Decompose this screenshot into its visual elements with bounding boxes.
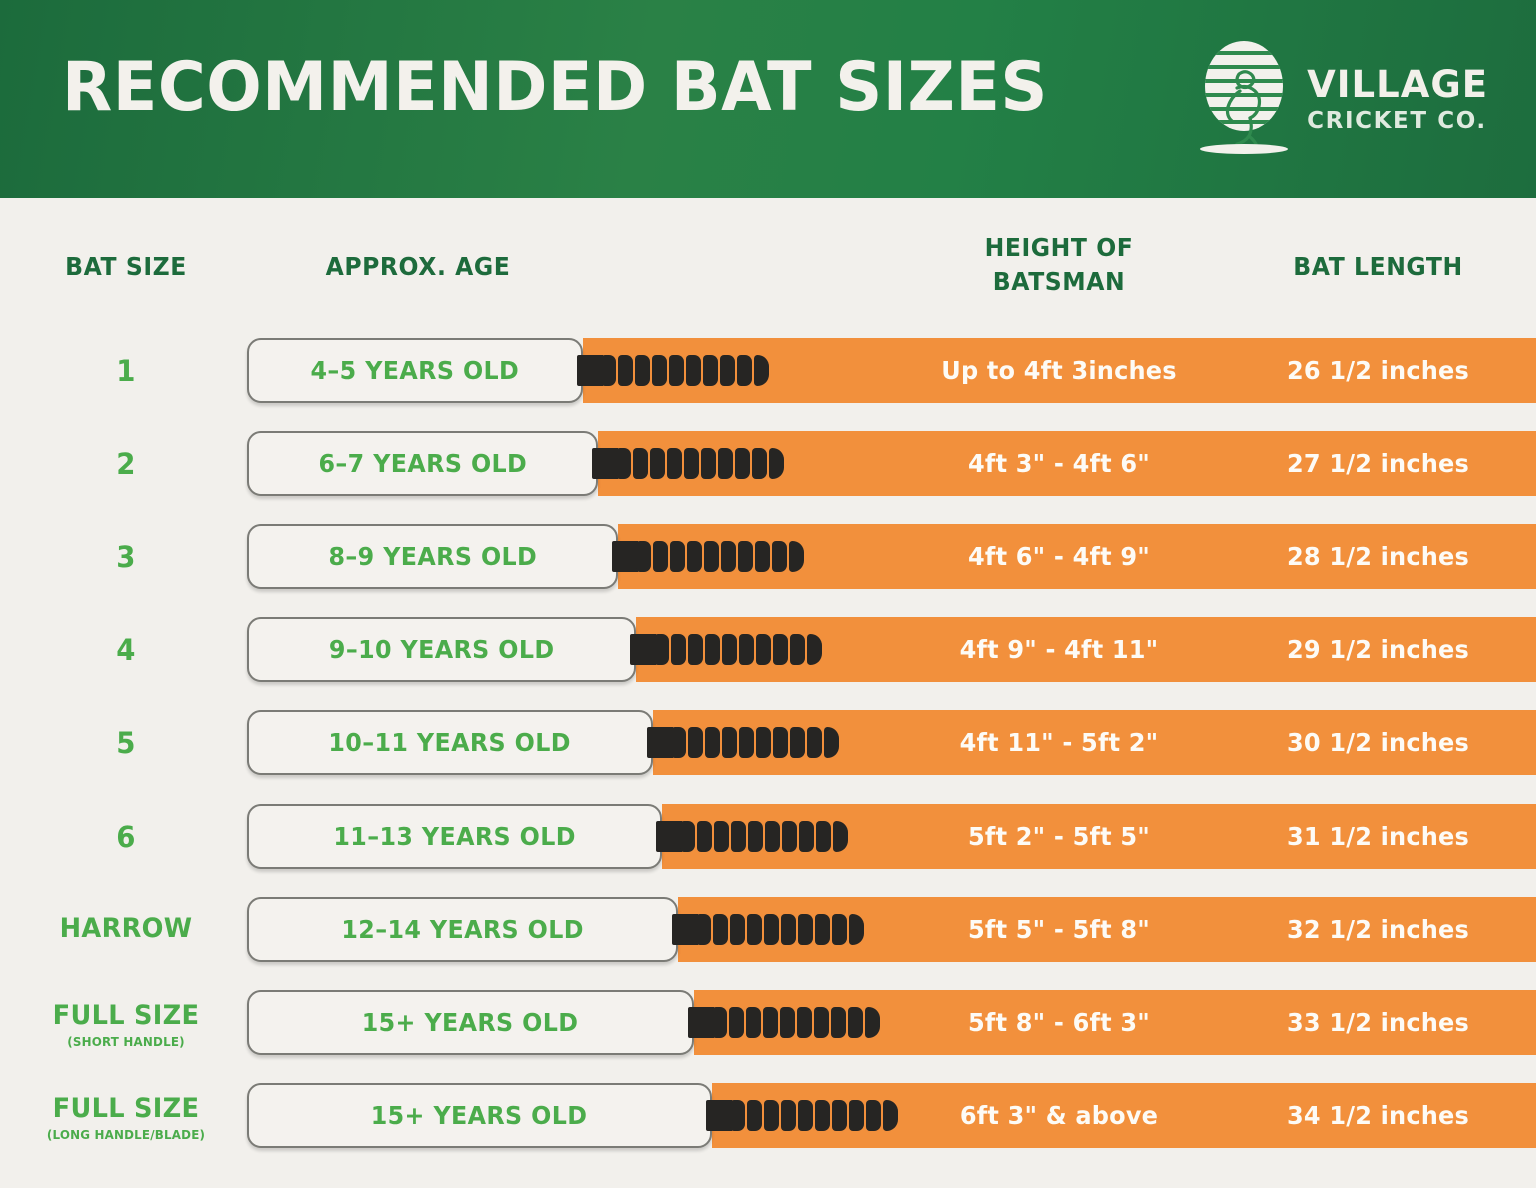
bat-blade: 11–13 YEARS OLD <box>247 804 662 869</box>
bat-grip-rib <box>731 821 746 852</box>
bat-size-value: 4 <box>41 633 212 667</box>
bat-grip-rib <box>815 1100 830 1131</box>
bat-grip-rib <box>824 727 839 758</box>
bat-grip-rib <box>756 634 771 665</box>
approx-age-value: 15+ YEARS OLD <box>371 1101 588 1130</box>
bat-handle <box>612 541 808 572</box>
bat-grip-rib <box>616 448 631 479</box>
bat-length-value: 28 1/2 inches <box>1253 524 1503 589</box>
bat-size-sublabel: (LONG HANDLE/BLADE) <box>41 1127 212 1142</box>
column-header-bat-length: BAT LENGTH <box>1256 252 1500 281</box>
bat-grip-rib <box>718 448 733 479</box>
bat-size-sublabel: (SHORT HANDLE) <box>41 1034 212 1049</box>
bat-grip-rib <box>763 1007 778 1038</box>
bat-handle <box>672 914 870 945</box>
bat-handle <box>647 727 843 758</box>
bat-size-label: 4 <box>36 633 216 667</box>
bat-grip-rib <box>667 448 682 479</box>
height-of-batsman-value: 4ft 11" - 5ft 2" <box>935 710 1183 775</box>
page-title: RECOMMENDED BAT SIZES <box>62 54 1048 122</box>
bat-size-value: 5 <box>41 726 212 760</box>
bat-grip-rib <box>747 914 762 945</box>
bat-blade: 6–7 YEARS OLD <box>247 431 598 496</box>
bat-grip-rib <box>722 634 737 665</box>
bat-size-value: FULL SIZE <box>41 1093 212 1124</box>
column-header-height-line1: HEIGHT OF <box>938 231 1181 265</box>
bat-grip-rib <box>730 914 745 945</box>
bat-grip-rib <box>782 821 797 852</box>
bat-grip-rib <box>633 448 648 479</box>
village-cricket-logo-icon <box>1197 38 1291 156</box>
bat-handle-grip <box>654 634 822 665</box>
brand-name-line2: CRICKET CO. <box>1307 110 1488 133</box>
bat-grip-rib <box>883 1100 898 1131</box>
bat-grip-rib <box>865 1007 880 1038</box>
bat-handle <box>630 634 826 665</box>
bat-grip-rib <box>688 727 703 758</box>
bat-grip-rib <box>669 355 684 386</box>
height-of-batsman-value: Up to 4ft 3inches <box>935 338 1183 403</box>
height-of-batsman-value: 4ft 6" - 4ft 9" <box>935 524 1183 589</box>
bat-grip-rib <box>866 1100 881 1131</box>
bat-size-value: 3 <box>41 540 212 574</box>
bat-blade: 8–9 YEARS OLD <box>247 524 618 589</box>
infographic-page: RECOMMENDED BAT SIZES <box>0 0 1536 1188</box>
bat-grip-rib <box>730 1100 745 1131</box>
bat-grip-rib <box>781 914 796 945</box>
bat-blade: 4–5 YEARS OLD <box>247 338 583 403</box>
bat-grip-rib <box>680 821 695 852</box>
bat-grip-rib <box>789 541 804 572</box>
bat-grip-rib <box>814 1007 829 1038</box>
bat-grip-rib <box>687 541 702 572</box>
bat-handle <box>577 355 773 386</box>
bat-handle-shaft <box>656 821 682 852</box>
bat-handle-grip <box>616 448 784 479</box>
bat-length-value: 27 1/2 inches <box>1253 431 1503 496</box>
bat-grip-rib <box>764 914 779 945</box>
bat-handle-shaft <box>647 727 673 758</box>
bat-grip-rib <box>739 727 754 758</box>
bat-grip-rib <box>815 914 830 945</box>
bat-grip-rib <box>807 727 822 758</box>
bat-grip-rib <box>799 821 814 852</box>
bat-grip-rib <box>653 541 668 572</box>
bat-handle <box>688 1007 886 1038</box>
bat-size-label: FULL SIZE(SHORT HANDLE) <box>36 1000 216 1049</box>
bat-grip-rib <box>790 634 805 665</box>
bat-grip-rib <box>752 448 767 479</box>
bat-grip-rib <box>790 727 805 758</box>
bat-blade: 12–14 YEARS OLD <box>247 897 678 962</box>
height-of-batsman-value: 5ft 5" - 5ft 8" <box>935 897 1183 962</box>
bat-grip-rib <box>703 355 718 386</box>
bat-grip-rib <box>764 1100 779 1131</box>
bat-grip-rib <box>748 821 763 852</box>
bat-grip-rib <box>832 1100 847 1131</box>
bat-grip-rib <box>738 541 753 572</box>
bat-handle-grip <box>636 541 804 572</box>
bat-grip-rib <box>780 1007 795 1038</box>
bat-size-label: 2 <box>36 447 216 481</box>
bat-grip-rib <box>769 448 784 479</box>
bat-grip-rib <box>746 1007 761 1038</box>
bat-handle-grip <box>601 355 769 386</box>
bat-grip-rib <box>636 541 651 572</box>
approx-age-value: 4–5 YEARS OLD <box>311 356 520 385</box>
brand-text: VILLAGE CRICKET CO. <box>1307 62 1488 133</box>
bat-handle <box>592 448 790 479</box>
bat-length-value: 33 1/2 inches <box>1253 990 1503 1055</box>
bat-blade: 15+ YEARS OLD <box>247 990 694 1055</box>
bat-grip-rib <box>688 634 703 665</box>
bat-handle <box>656 821 855 852</box>
page-header: RECOMMENDED BAT SIZES <box>0 0 1536 198</box>
column-header-bat-size: BAT SIZE <box>41 252 210 281</box>
bat-handle-shaft <box>688 1007 714 1038</box>
bat-grip-rib <box>696 914 711 945</box>
bat-handle <box>706 1100 902 1131</box>
bat-grip-rib <box>737 355 752 386</box>
bat-grip-rib <box>848 1007 863 1038</box>
bat-length-value: 32 1/2 inches <box>1253 897 1503 962</box>
height-of-batsman-value: 4ft 9" - 4ft 11" <box>935 617 1183 682</box>
bat-size-value: 2 <box>41 447 212 481</box>
bat-size-label: 5 <box>36 726 216 760</box>
bat-handle-shaft <box>706 1100 732 1131</box>
bat-grip-rib <box>601 355 616 386</box>
approx-age-value: 10–11 YEARS OLD <box>329 728 571 757</box>
bat-size-value: 1 <box>41 354 212 388</box>
bat-handle-grip <box>671 727 839 758</box>
bat-handle-shaft <box>592 448 618 479</box>
bat-blade: 10–11 YEARS OLD <box>247 710 653 775</box>
bat-grip-rib <box>618 355 633 386</box>
bat-grip-rib <box>798 1100 813 1131</box>
height-of-batsman-value: 6ft 3" & above <box>935 1083 1183 1148</box>
bat-grip-rib <box>720 355 735 386</box>
bat-grip-rib <box>756 727 771 758</box>
bat-handle-shaft <box>612 541 638 572</box>
bat-grip-rib <box>650 448 665 479</box>
bat-handle-shaft <box>577 355 603 386</box>
bat-handle-grip <box>680 821 848 852</box>
bat-grip-rib <box>654 634 669 665</box>
bat-size-value: FULL SIZE <box>41 1000 212 1031</box>
bat-length-value: 31 1/2 inches <box>1253 804 1503 869</box>
bat-handle-grip <box>730 1100 898 1131</box>
bat-grip-rib <box>714 821 729 852</box>
bat-grip-rib <box>670 541 685 572</box>
bat-size-label: 1 <box>36 354 216 388</box>
bat-handle-grip <box>696 914 864 945</box>
bat-grip-rib <box>849 1100 864 1131</box>
bat-grip-rib <box>701 448 716 479</box>
bat-grip-rib <box>781 1100 796 1131</box>
bat-grip-rib <box>652 355 667 386</box>
column-header-approx-age: APPROX. AGE <box>324 252 512 281</box>
height-of-batsman-value: 5ft 8" - 6ft 3" <box>935 990 1183 1055</box>
approx-age-value: 15+ YEARS OLD <box>362 1008 579 1037</box>
bat-grip-rib <box>754 355 769 386</box>
bat-length-value: 26 1/2 inches <box>1253 338 1503 403</box>
height-of-batsman-value: 5ft 2" - 5ft 5" <box>935 804 1183 869</box>
bat-length-value: 34 1/2 inches <box>1253 1083 1503 1148</box>
bat-grip-rib <box>816 821 831 852</box>
approx-age-value: 11–13 YEARS OLD <box>333 822 575 851</box>
bat-grip-rib <box>831 1007 846 1038</box>
bat-grip-rib <box>798 914 813 945</box>
bat-grip-rib <box>713 914 728 945</box>
bat-size-value: HARROW <box>41 913 212 944</box>
bat-handle-shaft <box>630 634 656 665</box>
bat-grip-rib <box>721 541 736 572</box>
brand-name-line1: VILLAGE <box>1307 66 1488 103</box>
bat-grip-rib <box>704 541 719 572</box>
bat-grip-rib <box>807 634 822 665</box>
bat-grip-rib <box>765 821 780 852</box>
approx-age-value: 12–14 YEARS OLD <box>341 915 583 944</box>
bat-grip-rib <box>773 727 788 758</box>
bat-grip-rib <box>739 634 754 665</box>
bat-grip-rib <box>797 1007 812 1038</box>
bat-grip-rib <box>772 541 787 572</box>
approx-age-value: 8–9 YEARS OLD <box>328 542 537 571</box>
bat-handle-shaft <box>672 914 698 945</box>
bat-grip-rib <box>735 448 750 479</box>
bat-grip-rib <box>722 727 737 758</box>
bat-grip-rib <box>671 727 686 758</box>
bat-grip-rib <box>832 914 847 945</box>
bat-grip-rib <box>849 914 864 945</box>
bat-grip-rib <box>729 1007 744 1038</box>
column-header-height-line2: BATSMAN <box>938 265 1181 299</box>
bat-size-label: 3 <box>36 540 216 574</box>
bat-size-value: 6 <box>41 820 212 854</box>
bat-size-label: FULL SIZE(LONG HANDLE/BLADE) <box>36 1093 216 1142</box>
bat-grip-rib <box>755 541 770 572</box>
height-of-batsman-value: 4ft 3" - 4ft 6" <box>935 431 1183 496</box>
bat-grip-rib <box>686 355 701 386</box>
bat-size-label: HARROW <box>36 913 216 944</box>
approx-age-value: 9–10 YEARS OLD <box>329 635 555 664</box>
bat-blade: 9–10 YEARS OLD <box>247 617 636 682</box>
bat-grip-rib <box>747 1100 762 1131</box>
bat-grip-rib <box>705 727 720 758</box>
bat-grip-rib <box>671 634 686 665</box>
bat-handle-grip <box>712 1007 880 1038</box>
approx-age-value: 6–7 YEARS OLD <box>318 449 527 478</box>
bat-grip-rib <box>635 355 650 386</box>
bat-grip-rib <box>833 821 848 852</box>
bat-length-value: 30 1/2 inches <box>1253 710 1503 775</box>
bat-grip-rib <box>705 634 720 665</box>
bat-length-value: 29 1/2 inches <box>1253 617 1503 682</box>
column-header-height-of-batsman: HEIGHT OF BATSMAN <box>938 231 1181 299</box>
bat-grip-rib <box>684 448 699 479</box>
bat-grip-rib <box>712 1007 727 1038</box>
brand-logo: VILLAGE CRICKET CO. <box>1197 38 1488 156</box>
bat-blade: 15+ YEARS OLD <box>247 1083 712 1148</box>
bat-grip-rib <box>697 821 712 852</box>
bat-size-label: 6 <box>36 820 216 854</box>
bat-grip-rib <box>773 634 788 665</box>
